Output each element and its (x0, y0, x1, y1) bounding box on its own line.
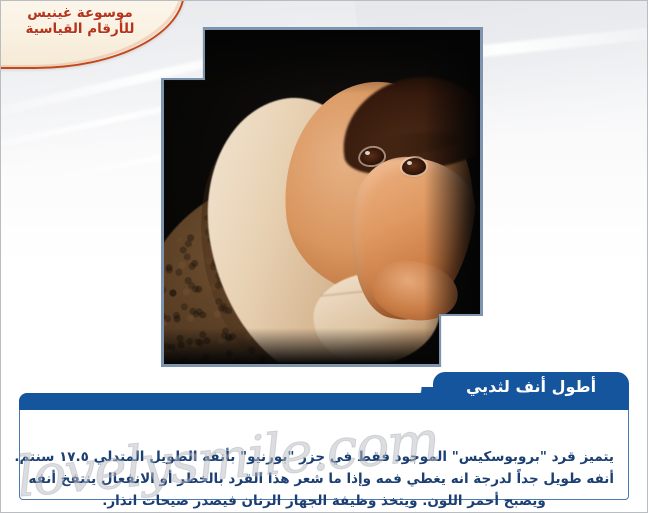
description-line: ويصبح أحمر اللون. ويتخذ وظيفة الجهاز الر… (34, 490, 614, 512)
description-line: أنفه طويل جداً لدرجة انه يغطي فمه وإذا م… (34, 468, 614, 490)
photo-frame (161, 27, 483, 367)
record-title: أطول أنف لثديي (433, 372, 629, 402)
photo-frame-inner (164, 30, 480, 364)
ribbon-line-2: للأرقام القياسية (5, 21, 155, 37)
record-description-panel: يتميز قرد "بروبوسكيس" الموجود فقط في جزر… (19, 393, 629, 500)
description-line: يتميز قرد "بروبوسكيس" الموجود فقط في جزر… (34, 446, 614, 468)
photo-vignette-right (424, 30, 480, 364)
proboscis-monkey-photo (164, 30, 480, 364)
record-title-tab: أطول أنف لثديي (433, 372, 629, 402)
panel-body: يتميز قرد "بروبوسكيس" الموجود فقط في جزر… (19, 410, 629, 500)
ribbon-line-1: موسوعة غينيس (27, 5, 133, 21)
monkey-eye-highlight (365, 151, 370, 155)
ribbon-text: موسوعة غينيس للأرقام القياسية (5, 5, 155, 37)
record-page: موسوعة غينيس للأرقام القياسية (0, 0, 648, 513)
record-description-text: يتميز قرد "بروبوسكيس" الموجود فقط في جزر… (34, 446, 614, 512)
photo-vignette-bottom (164, 328, 480, 364)
monkey-eye-highlight (407, 161, 412, 165)
